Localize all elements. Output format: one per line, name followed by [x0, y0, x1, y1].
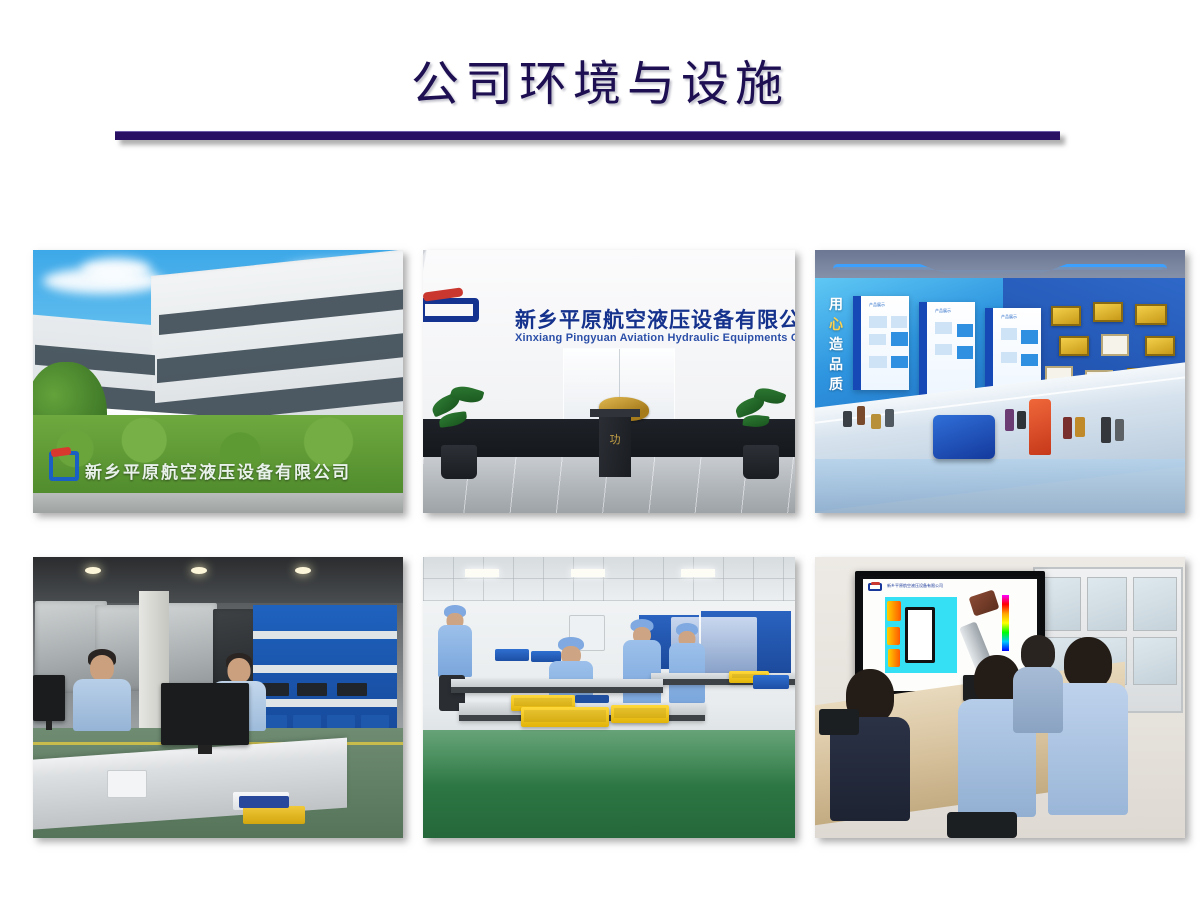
blue-bin: [495, 649, 529, 661]
ceiling-light-icon: [465, 569, 499, 577]
product-sample: [871, 414, 881, 429]
storage-rack: [253, 605, 397, 739]
product-sample: [1017, 411, 1026, 429]
award-plaque: [1051, 306, 1081, 326]
yellow-crate: [243, 806, 305, 824]
factory-sign-text: 新乡平原航空液压设备有限公司: [85, 458, 351, 483]
attendee: [1011, 635, 1065, 731]
computer-monitor: [161, 683, 249, 745]
photo-factory-exterior[interactable]: 新乡平原航空液压设备有限公司 厂区外景 — 新乡平原航空液压设备有限公司: [33, 250, 403, 513]
product-sample: [843, 411, 852, 427]
red-accumulator-display: [1029, 399, 1051, 455]
worker: [71, 649, 133, 727]
yellow-parts-tray: [521, 707, 609, 727]
exhibition-hall-scene: 用 心 造 品 质 产品展示 产品展示: [815, 250, 1185, 513]
photo-company-lobby[interactable]: 新乡平原航空液压设备有限公司 Xinxiang Pingyuan Aviatio…: [423, 250, 795, 513]
reflective-floor: [815, 459, 1185, 513]
panel-title: 产品展示: [935, 308, 951, 314]
parts-bin: [337, 683, 367, 696]
parts-bin: [293, 715, 321, 728]
contour-legend: [1002, 595, 1009, 651]
photo-grid: 新乡平原航空液压设备有限公司 厂区外景 — 新乡平原航空液压设备有限公司 新乡平…: [33, 250, 1177, 838]
ceiling-structure: [33, 557, 403, 603]
product-sample: [1115, 419, 1124, 441]
factory-exterior-scene: 新乡平原航空液压设备有限公司: [33, 250, 403, 513]
machining-workshop-scene: [33, 557, 403, 838]
product-sample: [885, 409, 894, 427]
company-logo-icon: [423, 290, 483, 324]
office-chair: [819, 709, 859, 735]
statue-pedestal: 功: [599, 415, 631, 477]
ceiling-grid: [423, 557, 795, 601]
company-logo-icon: [868, 583, 882, 591]
company-logo-icon: [49, 451, 79, 481]
lobby-name-cn: 新乡平原航空液压设备有限公司: [515, 304, 795, 334]
blue-parts-tray: [753, 675, 789, 689]
award-plaque: [1135, 304, 1167, 325]
blue-box: [575, 695, 609, 703]
parts-bin: [361, 715, 389, 728]
potted-plant: [737, 383, 785, 479]
product-sample: [1005, 409, 1014, 431]
panel-title: 产品展示: [1001, 314, 1017, 320]
roadway: [33, 493, 403, 513]
photo-technical-review-meeting[interactable]: 新乡平原航空液压设备有限公司: [815, 557, 1185, 838]
panel-title: 产品展示: [869, 302, 885, 308]
ceiling-light-icon: [681, 569, 715, 577]
pedestal-character: 功: [599, 431, 631, 447]
yellow-parts-tray: [611, 705, 669, 723]
title-divider: [115, 131, 1060, 140]
parts-bin: [327, 715, 355, 728]
slide-root: 公司环境与设施: [0, 0, 1200, 900]
attendee: [829, 669, 911, 819]
photo-exhibition-hall[interactable]: 用 心 造 品 质 产品展示 产品展示: [815, 250, 1185, 513]
office-chair: [947, 812, 1017, 838]
product-sample: [1101, 417, 1111, 443]
ceiling-lamp-icon: [191, 567, 207, 574]
ceiling-light-icon: [571, 569, 605, 577]
certificate-frame: [1101, 334, 1129, 356]
award-plaque: [1145, 336, 1175, 356]
photo-assembly-cleanroom[interactable]: 装配洁净车间: [423, 557, 795, 838]
hedge: [33, 415, 403, 499]
award-plaque: [1059, 336, 1089, 356]
ceiling-lamp-icon: [295, 567, 311, 574]
meeting-room-scene: 新乡平原航空液压设备有限公司: [815, 557, 1185, 838]
product-display-panel: 产品展示: [919, 302, 975, 396]
lobby-name-en: Xinxiang Pingyuan Aviation Hydraulic Equ…: [515, 332, 795, 344]
award-plaque: [1093, 302, 1123, 322]
parts-bin: [297, 683, 327, 696]
epoxy-floor: [423, 730, 795, 838]
wall-slogan: 用 心 造 品 质: [825, 294, 847, 394]
product-display-panel: 产品展示: [853, 296, 909, 390]
worker: [667, 623, 707, 705]
cloud-icon: [81, 258, 151, 280]
product-sample: [1063, 417, 1072, 439]
computer-monitor: [33, 675, 65, 721]
blue-folder: [239, 796, 289, 808]
product-sample: [1075, 417, 1085, 437]
photo-machining-workshop[interactable]: 数控加工车间: [33, 557, 403, 838]
product-sample: [857, 406, 865, 425]
hydraulic-pump-display: [933, 415, 995, 459]
lobby-scene: 新乡平原航空液压设备有限公司 Xinxiang Pingyuan Aviatio…: [423, 250, 795, 513]
screen-slide-title: 新乡平原航空液压设备有限公司: [887, 583, 943, 589]
work-table: [451, 679, 663, 693]
worker: [435, 605, 475, 715]
page-title: 公司环境与设施: [0, 44, 1200, 114]
tool-case: [107, 770, 147, 798]
cad-model-valve: [969, 589, 1000, 616]
fea-contour-plot: [885, 597, 957, 673]
potted-plant: [435, 383, 483, 479]
ceiling-lamp-icon: [85, 567, 101, 574]
assembly-cleanroom-scene: [423, 557, 795, 838]
